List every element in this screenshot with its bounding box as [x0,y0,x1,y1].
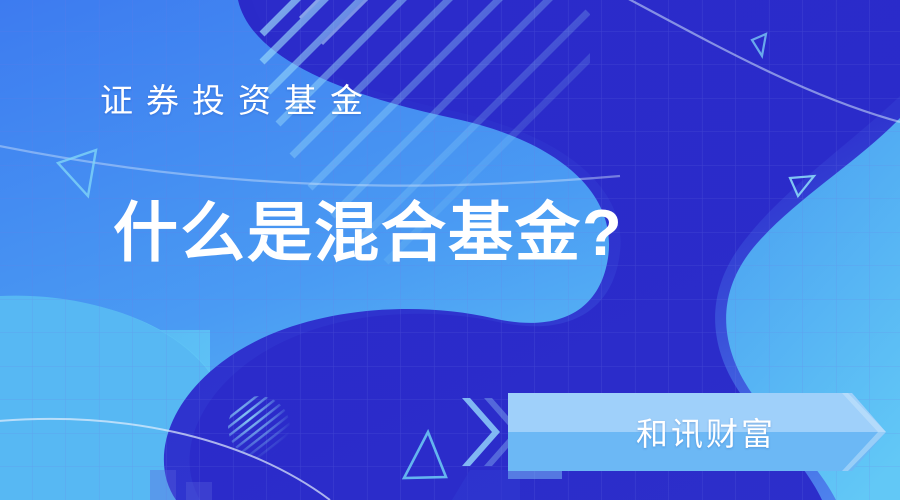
brand-banner: 和讯财富 [466,393,886,471]
poster-headline: 什么是混合基金? [113,198,624,268]
brand-name: 和讯财富 [576,393,836,471]
poster-canvas: 证券投资基金 什么是混合基金? 和讯财富 [0,0,900,500]
poster-kicker: 证券投资基金 [100,80,376,121]
striped-circle [228,396,290,458]
